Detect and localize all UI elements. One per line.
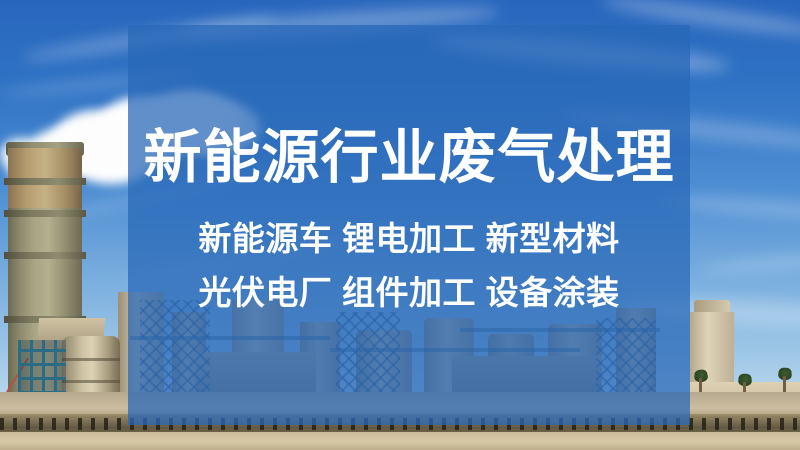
smokestack-band: [4, 178, 86, 185]
promo-banner: 新能源行业废气处理 新能源车 锂电加工 新型材料 光伏电厂 组件加工 设备涂装: [0, 0, 800, 450]
near-ground: [0, 432, 800, 450]
page-title: 新能源行业废气处理: [128, 124, 690, 192]
vessel-ring: [62, 358, 120, 361]
subtitle-line-1: 新能源车 锂电加工 新型材料: [128, 218, 690, 260]
smokestack-band: [4, 210, 86, 217]
vessel-ring: [62, 380, 120, 383]
smokestack-band: [4, 252, 86, 259]
subtitle-line-2: 光伏电厂 组件加工 设备涂装: [128, 272, 690, 314]
